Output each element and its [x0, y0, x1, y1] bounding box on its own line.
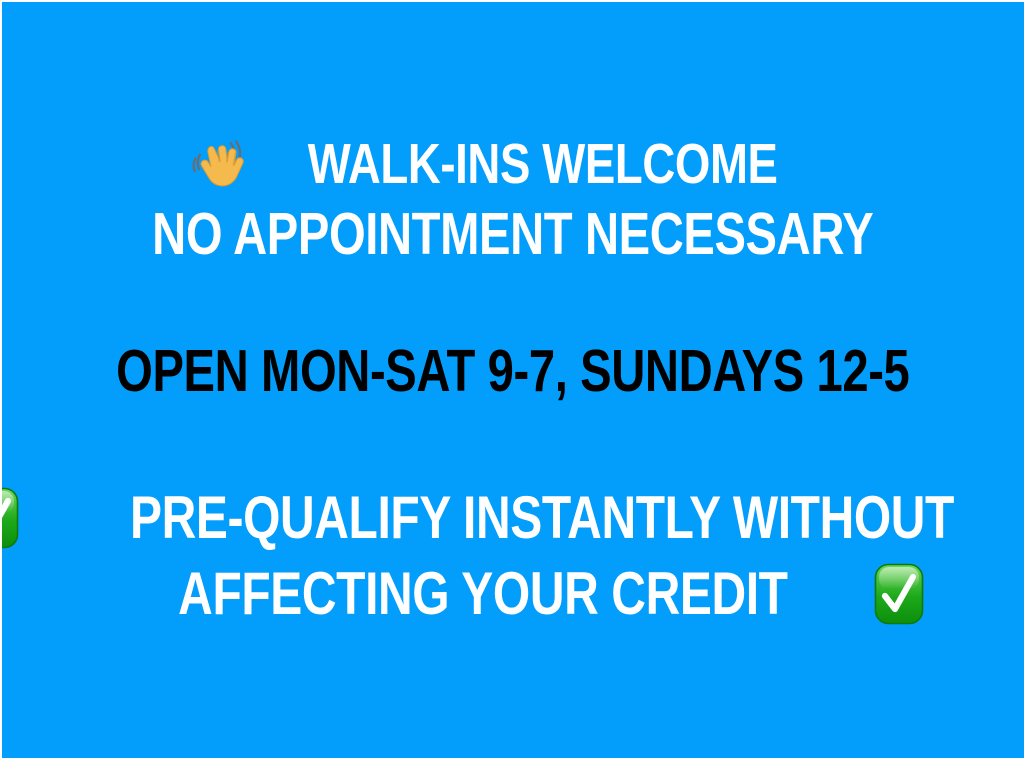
sign-line-text: WALK-INS WELCOME: [308, 136, 778, 193]
check-button-icon: [874, 563, 924, 625]
sign-line-affecting-credit: AFFECTING YOUR CREDIT: [2, 563, 1024, 625]
waving-hand-icon: [189, 135, 247, 193]
check-button-icon: [2, 487, 19, 549]
sign-line-walk-ins-welcome: WALK-INS WELCOME: [2, 135, 1024, 193]
sign-line-no-appointment-necessary: NO APPOINTMENT NECESSARY: [2, 205, 1024, 264]
sign-line-text: PRE-QUALIFY INSTANTLY WITHOUT: [130, 488, 954, 548]
sign-line-text: OPEN MON-SAT 9-7, SUNDAYS 12-5: [116, 342, 909, 401]
sign-line-text: NO APPOINTMENT NECESSARY: [152, 205, 873, 264]
sign-line-text: AFFECTING YOUR CREDIT: [178, 564, 787, 624]
sign-line-hours: OPEN MON-SAT 9-7, SUNDAYS 12-5: [2, 342, 1024, 401]
sign-canvas: WALK-INS WELCOME NO APPOINTMENT NECESSAR…: [2, 2, 1024, 758]
sign-text-block: WALK-INS WELCOME NO APPOINTMENT NECESSAR…: [2, 2, 1024, 758]
sign-line-pre-qualify: PRE-QUALIFY INSTANTLY WITHOUT: [2, 487, 1024, 549]
